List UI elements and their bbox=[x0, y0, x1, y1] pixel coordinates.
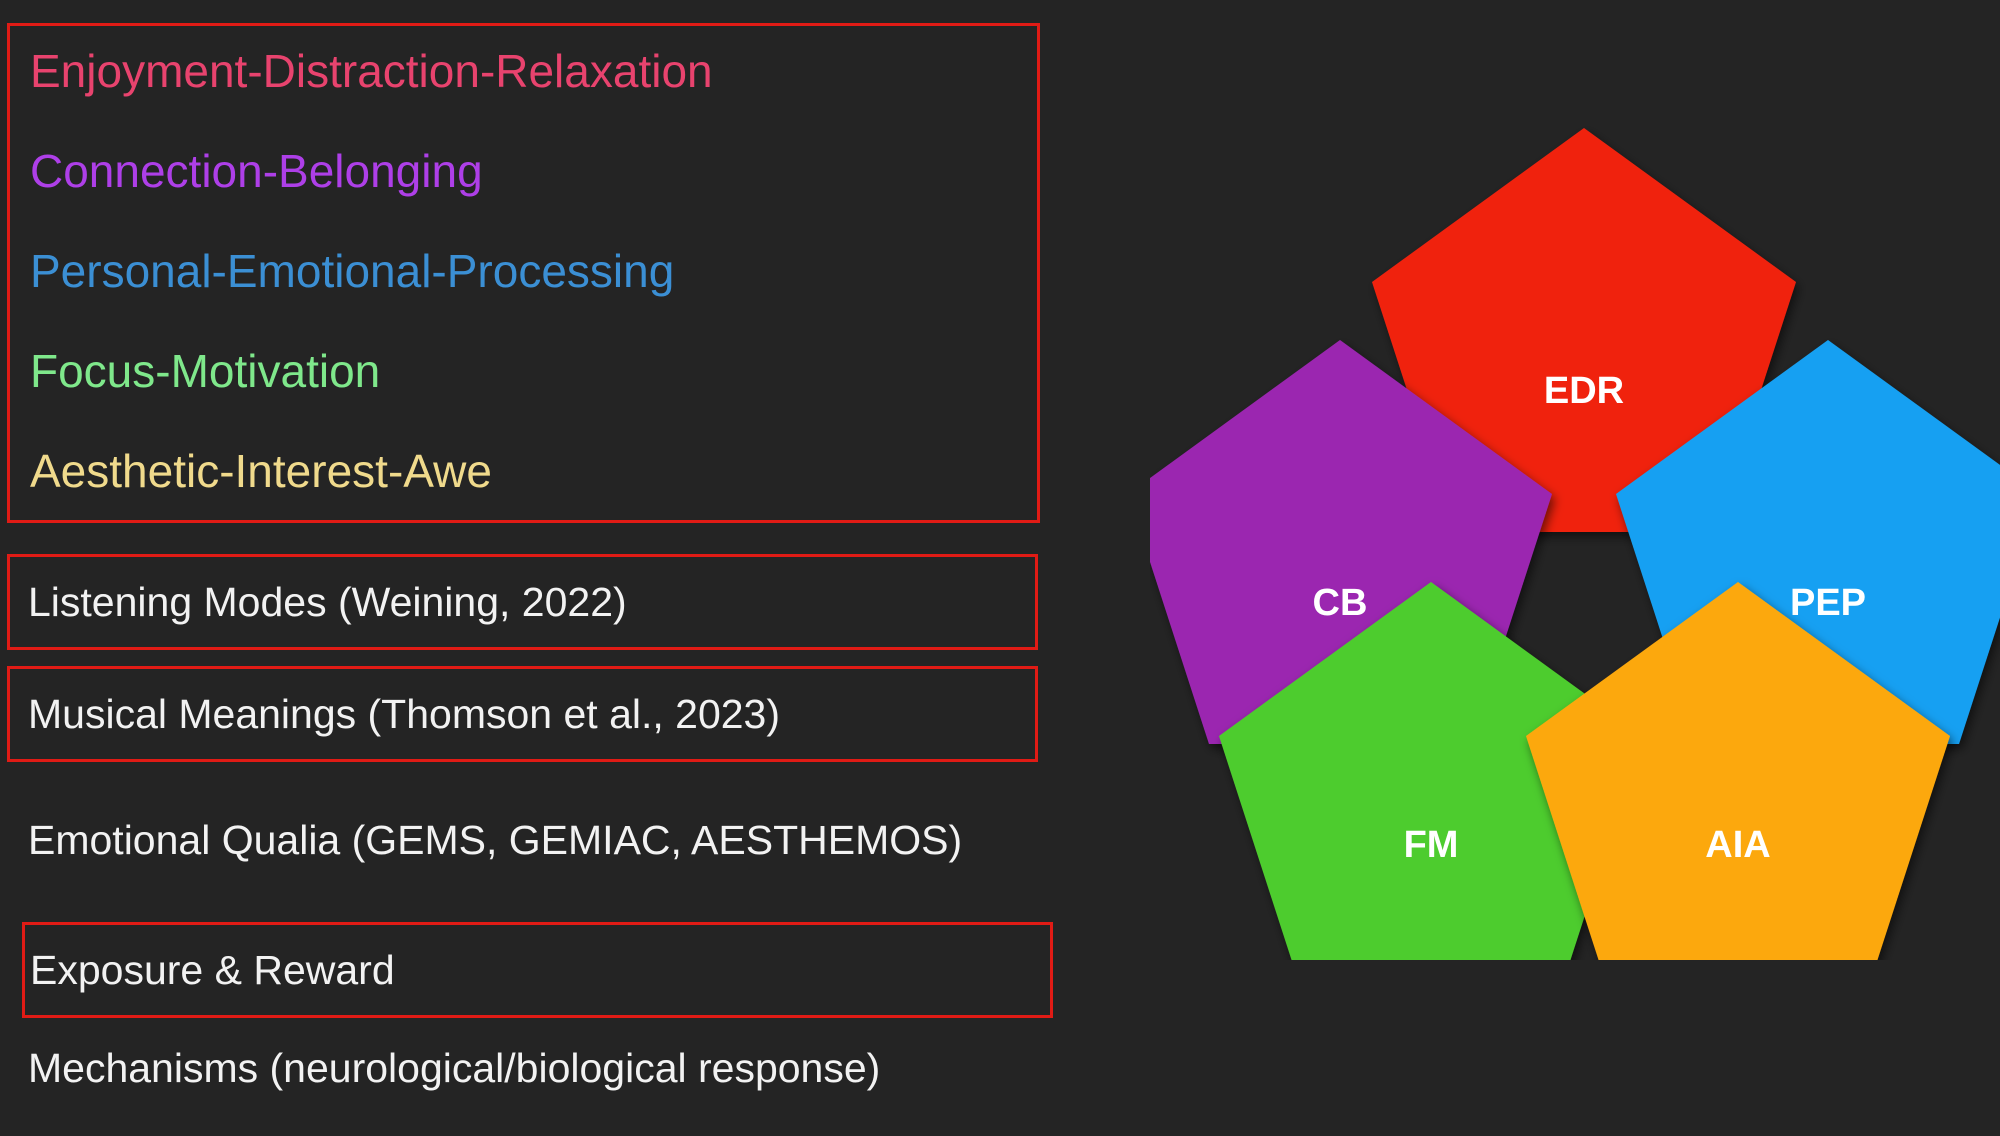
category-item-edr: Enjoyment-Distraction-Relaxation bbox=[30, 48, 713, 94]
category-item-fm: Focus-Motivation bbox=[30, 348, 380, 394]
list-item-exposure-reward: Exposure & Reward bbox=[30, 950, 395, 991]
pentagon-label-fm: FM bbox=[1404, 824, 1459, 866]
concept-list-panel: Enjoyment-Distraction-Relaxation Connect… bbox=[0, 0, 1100, 1136]
pentagon-label-pep: PEP bbox=[1790, 582, 1866, 624]
category-label-aia: Aesthetic-Interest-Awe bbox=[30, 445, 492, 497]
list-item-emotional-qualia: Emotional Qualia (GEMS, GEMIAC, AESTHEMO… bbox=[28, 820, 962, 861]
category-item-aia: Aesthetic-Interest-Awe bbox=[30, 448, 492, 494]
category-label-fm: Focus-Motivation bbox=[30, 345, 380, 397]
category-label-pep: Personal-Emotional-Processing bbox=[30, 245, 674, 297]
category-item-pep: Personal-Emotional-Processing bbox=[30, 248, 674, 294]
category-list: Enjoyment-Distraction-Relaxation Connect… bbox=[0, 0, 1100, 540]
list-item-label: Exposure & Reward bbox=[30, 947, 395, 993]
pentagon-cluster-diagram: EDR CB PEP FM AIA bbox=[1150, 100, 2000, 960]
slide-canvas: Enjoyment-Distraction-Relaxation Connect… bbox=[0, 0, 2000, 1136]
list-item-label: Musical Meanings (Thomson et al., 2023) bbox=[28, 691, 780, 737]
list-item-label: Mechanisms (neurological/biological resp… bbox=[28, 1045, 880, 1091]
list-item-label: Emotional Qualia (GEMS, GEMIAC, AESTHEMO… bbox=[28, 817, 962, 863]
pentagon-label-cb: CB bbox=[1313, 582, 1368, 624]
list-item-musical-meanings: Musical Meanings (Thomson et al., 2023) bbox=[28, 694, 780, 735]
pentagon-label-aia: AIA bbox=[1705, 824, 1770, 866]
category-label-cb: Connection-Belonging bbox=[30, 145, 483, 197]
category-item-cb: Connection-Belonging bbox=[30, 148, 483, 194]
list-item-mechanisms: Mechanisms (neurological/biological resp… bbox=[28, 1048, 880, 1089]
list-item-listening-modes: Listening Modes (Weining, 2022) bbox=[28, 582, 627, 623]
pentagon-label-edr: EDR bbox=[1544, 370, 1624, 412]
category-label-edr: Enjoyment-Distraction-Relaxation bbox=[30, 45, 713, 97]
list-item-label: Listening Modes (Weining, 2022) bbox=[28, 579, 627, 625]
